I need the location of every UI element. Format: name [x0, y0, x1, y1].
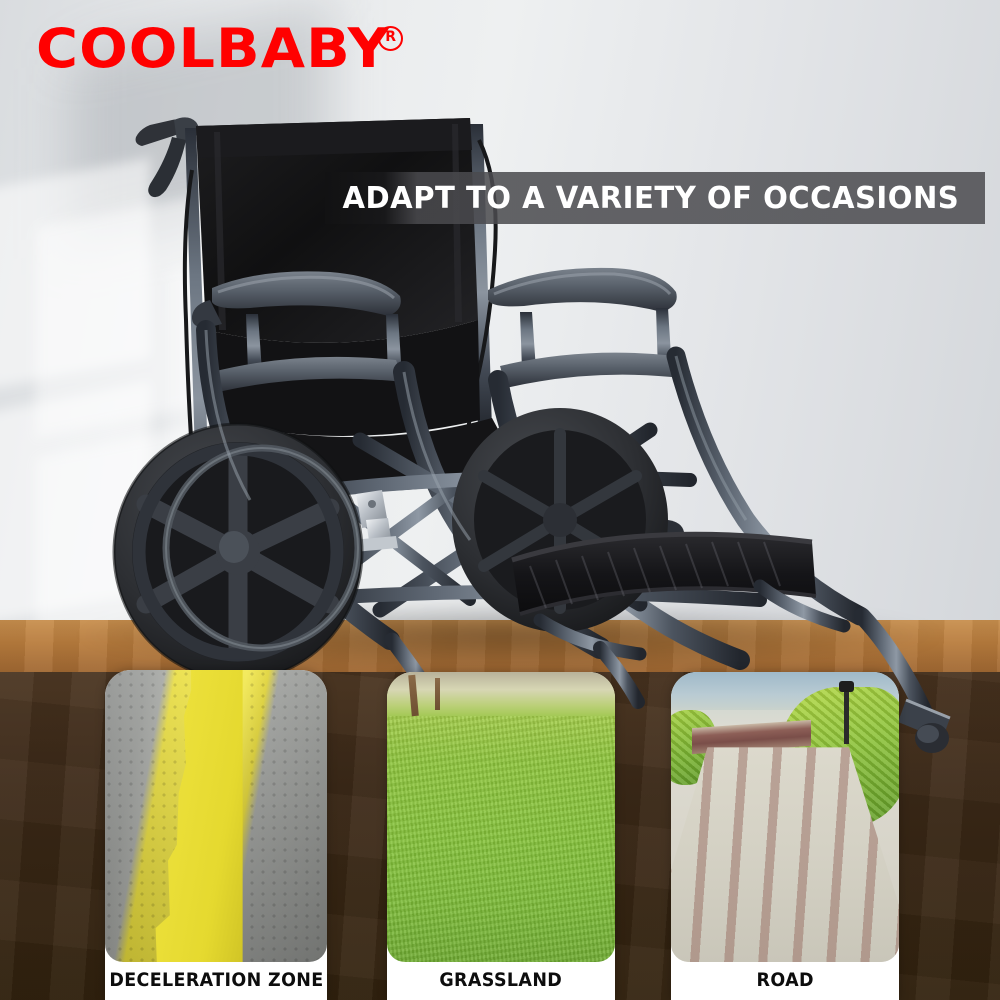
speed-bump-photo — [105, 670, 327, 962]
headline-text: ADAPT TO A VARIETY OF OCCASIONS — [343, 181, 960, 216]
tree-trunk — [435, 678, 440, 710]
lawn-horizon — [387, 672, 615, 716]
use-case-card-label: DECELERATION ZONE — [109, 962, 323, 1000]
use-case-card-road: ROAD — [671, 672, 899, 1000]
paved-walkway-photo — [671, 672, 899, 962]
use-case-card-deceleration-zone: DECELERATION ZONE — [105, 670, 327, 1000]
product-banner-image: COOLBABY R ADAPT TO A VARIETY OF OCCASIO… — [0, 0, 1000, 1000]
use-case-card-label: GRASSLAND — [440, 962, 563, 1000]
brand-logo: COOLBABY R — [36, 22, 403, 76]
brand-logo-text: COOLBABY — [36, 22, 390, 76]
grass-lawn-photo — [387, 672, 615, 962]
headline-banner: ADAPT TO A VARIETY OF OCCASIONS — [325, 172, 985, 224]
rear-wheel-left-near — [114, 424, 362, 680]
garden-lamp — [844, 681, 849, 745]
use-case-card-grassland: GRASSLAND — [387, 672, 615, 1000]
use-case-card-label: ROAD — [756, 962, 813, 1000]
